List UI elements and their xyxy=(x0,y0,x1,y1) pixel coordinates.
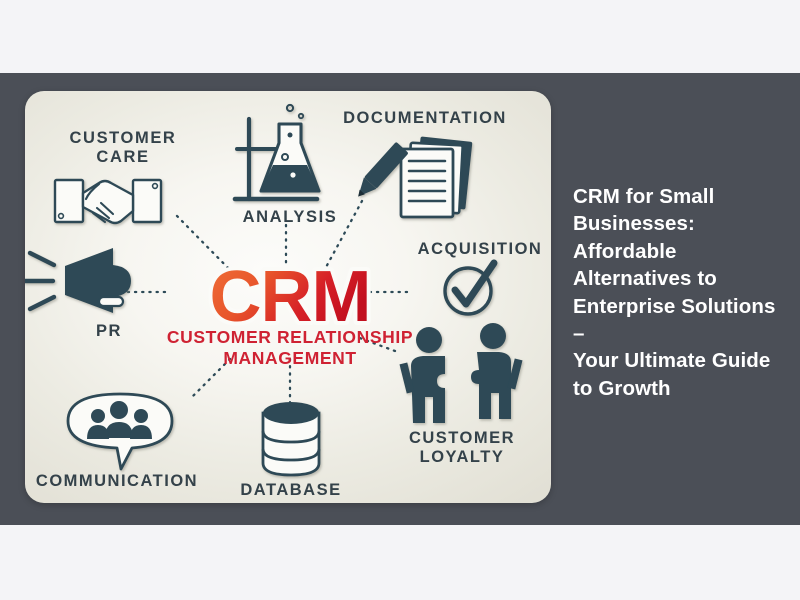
label-documentation: DOCUMENTATION xyxy=(343,109,507,127)
crm-acronym: CRM xyxy=(210,257,371,337)
node-database: DATABASE xyxy=(240,402,341,499)
node-analysis: ANALYSIS xyxy=(235,105,337,226)
check-circle-icon xyxy=(445,263,494,314)
speech-bubble-people-icon xyxy=(68,394,172,469)
node-communication: COMMUNICATION xyxy=(36,394,198,490)
label-analysis: ANALYSIS xyxy=(243,208,338,226)
crm-subtitle-line1: CUSTOMER RELATIONSHIP xyxy=(167,327,413,347)
handshake-icon xyxy=(55,180,161,223)
node-documentation: DOCUMENTATION xyxy=(343,109,507,217)
node-customer-loyalty: CUSTOMER LOYALTY xyxy=(399,323,522,466)
megaphone-icon xyxy=(25,248,131,313)
label-pr: PR xyxy=(96,322,122,340)
label-customer-loyalty-line1: CUSTOMER xyxy=(409,429,515,447)
documents-pencil-icon xyxy=(352,136,473,217)
label-communication: COMMUNICATION xyxy=(36,472,198,490)
crm-diagram: CUSTOMER CARE xyxy=(25,91,551,503)
crm-infographic-card: CUSTOMER CARE xyxy=(25,91,551,503)
label-customer-care-line2: CARE xyxy=(96,148,149,166)
label-customer-loyalty-line2: LOYALTY xyxy=(420,448,505,466)
database-cylinder-icon xyxy=(263,402,319,475)
flask-icon xyxy=(235,105,319,199)
crm-subtitle-line2: MANAGEMENT xyxy=(223,348,356,368)
puzzle-people-icon xyxy=(399,323,522,423)
node-customer-care: CUSTOMER CARE xyxy=(55,129,176,223)
label-customer-care-line1: CUSTOMER xyxy=(70,129,177,147)
label-acquisition: ACQUISITION xyxy=(418,240,543,258)
label-database: DATABASE xyxy=(240,481,341,499)
node-pr: PR xyxy=(25,248,131,340)
page-title: CRM for Small Businesses: Affordable Alt… xyxy=(573,183,787,402)
node-acquisition: ACQUISITION xyxy=(418,240,543,314)
crm-wordmark: CRM CRM CUSTOMER RELATIONSHIP MANAGEMENT xyxy=(167,257,413,368)
